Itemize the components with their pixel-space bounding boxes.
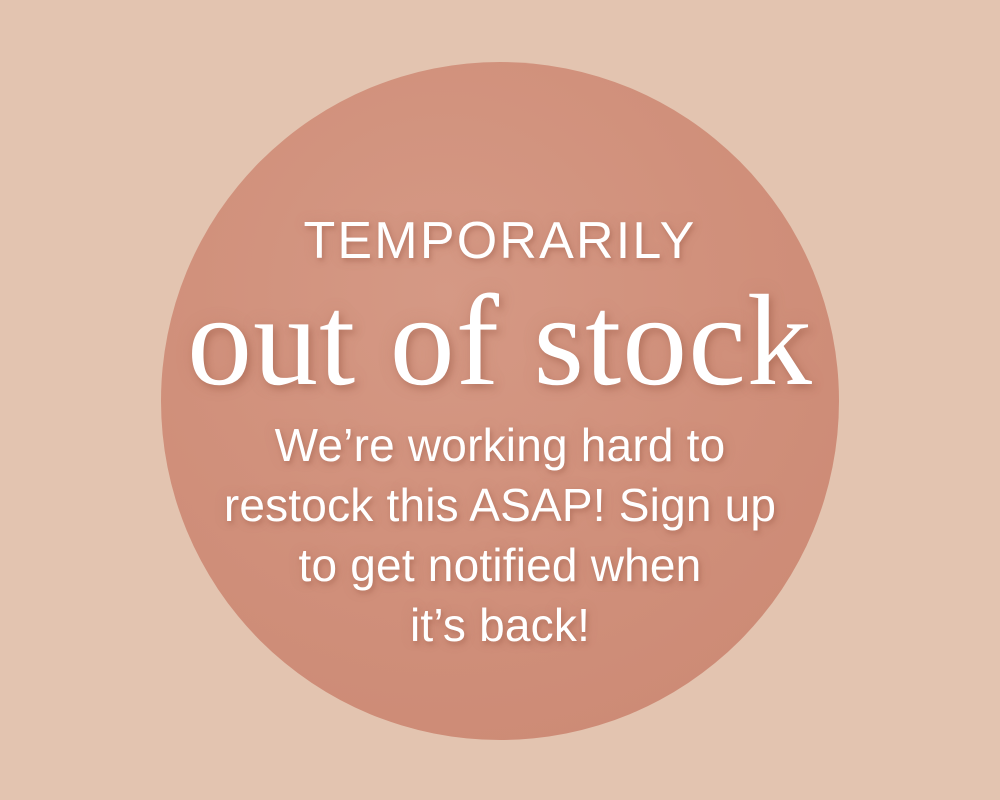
message-block: TEMPORARILY out of stock We’re working h… <box>0 0 1000 800</box>
out-of-stock-notice-canvas: TEMPORARILY out of stock We’re working h… <box>0 0 1000 800</box>
eyebrow-text: TEMPORARILY <box>0 211 1000 271</box>
body-copy-line: restock this ASAP! Sign up <box>0 475 1000 535</box>
body-copy-line: to get notified when <box>0 535 1000 595</box>
body-copy-line: it’s back! <box>0 595 1000 655</box>
body-copy-line: We’re working hard to <box>0 415 1000 475</box>
headline-text: out of stock <box>0 277 1000 405</box>
body-copy: We’re working hard to restock this ASAP!… <box>0 415 1000 655</box>
